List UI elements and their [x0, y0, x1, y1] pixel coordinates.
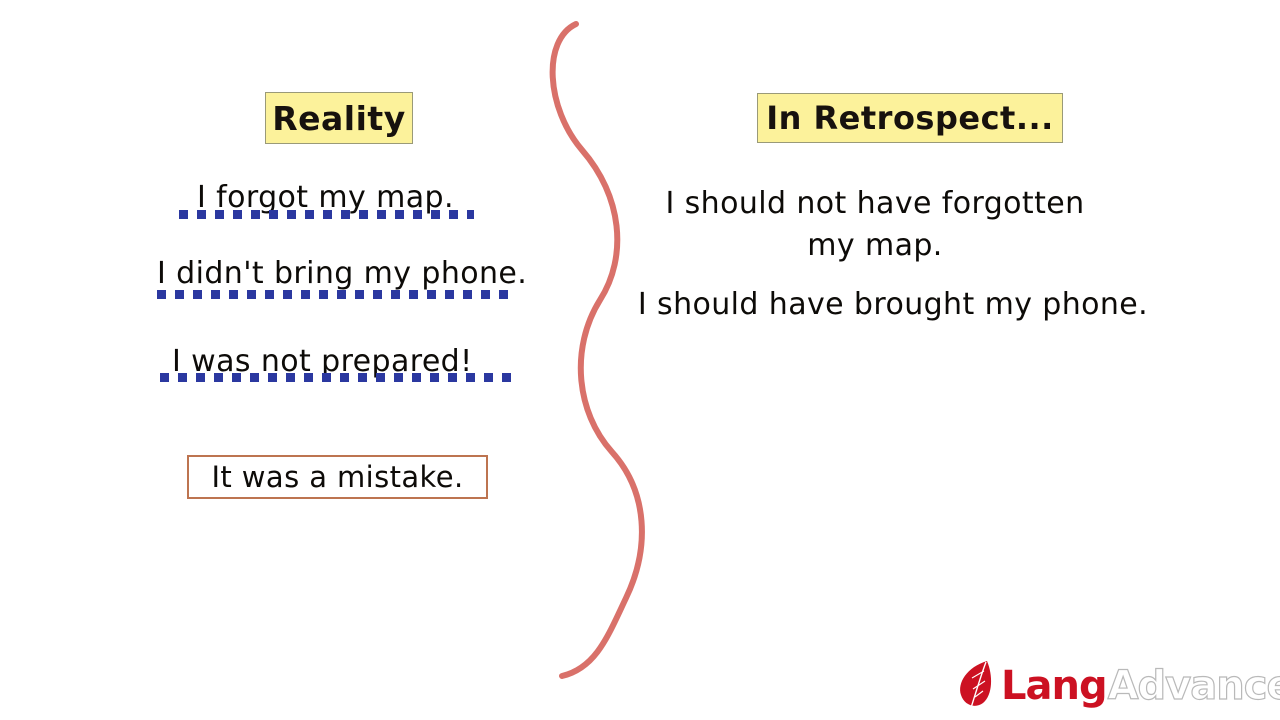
squiggle-divider-icon: [520, 0, 700, 720]
logo-word-lang: Lang: [1001, 666, 1107, 706]
column-header-retrospect: In Retrospect...: [757, 93, 1063, 143]
mistake-highlight-text: It was a mistake.: [211, 460, 463, 494]
site-logo[interactable]: Lang Advance.com Learning: [957, 658, 1280, 714]
dotted-underline-3: [160, 373, 518, 382]
column-header-reality-label: Reality: [272, 99, 405, 138]
retrospect-sentence-2: I should have brought my phone.: [620, 287, 1166, 322]
leaf-icon: [957, 659, 997, 713]
column-header-reality: Reality: [265, 92, 413, 144]
dotted-underline-1: [179, 210, 474, 219]
mistake-highlight-box: It was a mistake.: [187, 455, 488, 499]
reality-sentence-2: I didn't bring my phone.: [157, 256, 527, 291]
retrospect-sentence-1-part-2: my map.: [645, 228, 1105, 263]
logo-word-advance: Advance.com: [1108, 666, 1280, 706]
slide-canvas: Reality I forgot my map. I didn't bring …: [0, 0, 1280, 720]
dotted-underline-2: [157, 290, 517, 299]
retrospect-sentence-1-part-1: I should not have forgotten: [645, 186, 1105, 221]
column-header-retrospect-label: In Retrospect...: [766, 99, 1054, 137]
